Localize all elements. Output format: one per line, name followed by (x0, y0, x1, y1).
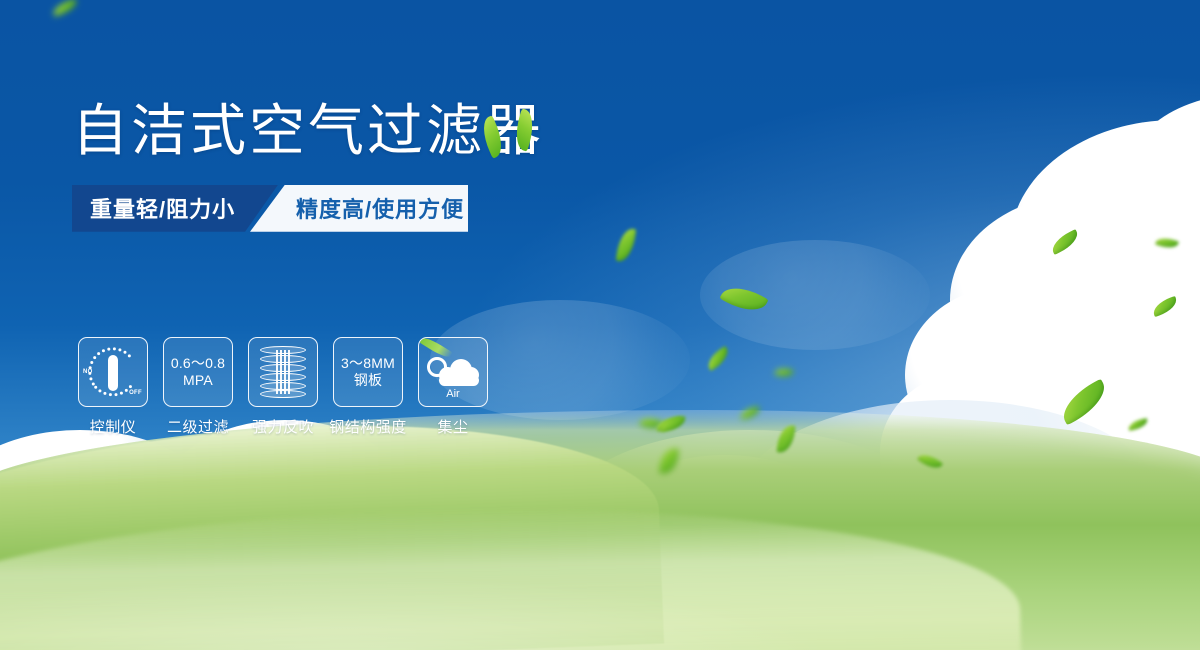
gauge-dial-icon: NO OFF (84, 343, 142, 401)
feature-item-pressure[interactable]: 0.6～0.8 MPA 二级过滤 (163, 337, 233, 437)
coil-ring (260, 390, 306, 398)
gauge-tick-dot (94, 386, 97, 389)
gauge-tick-dot (97, 352, 100, 355)
sprout-leaves-icon (476, 108, 556, 160)
feature-value-line-2: 钢板 (354, 372, 382, 389)
feature-item-control-gauge[interactable]: NO OFF 控制仪 (78, 337, 148, 437)
headline-block: 自洁式空气过滤器 重量轻/阻力小 精度高/使用方便 (72, 100, 772, 232)
feature-value-line-1: 0.6～0.8 (171, 355, 225, 372)
feature-label: 钢结构强度 (329, 416, 407, 437)
coil-bar (284, 350, 286, 394)
sprout-leaf-right (511, 108, 538, 151)
gauge-tick-dot (98, 389, 101, 392)
gauge-tick-dot (129, 385, 132, 388)
gauge-tick-dot (109, 393, 112, 396)
feature-label: 二级过滤 (167, 416, 229, 437)
grass-highlight (0, 520, 1200, 650)
feature-label: 集尘 (437, 416, 468, 437)
coil-ring (260, 364, 306, 372)
sprout-leaf-left (477, 115, 509, 158)
feature-icon-box: Air (418, 337, 488, 407)
feature-item-dust-collection[interactable]: Air 集尘 (418, 337, 488, 437)
coil-bar (288, 350, 290, 394)
feature-icon-box: NO OFF (78, 337, 148, 407)
coil-ring (260, 346, 306, 354)
coil-filter-icon (260, 346, 306, 398)
gauge-tick-dot (123, 351, 126, 354)
feature-value-line-1: 3～8MM (341, 355, 395, 372)
subtitle-panel-secondary: 精度高/使用方便 (250, 185, 468, 232)
feature-icon-box (248, 337, 318, 407)
feature-item-blowback[interactable]: 强力反吹 (248, 337, 318, 437)
feature-label: 控制仪 (90, 416, 137, 437)
gauge-tick-dot (125, 389, 128, 392)
product-banner: 自洁式空气过滤器 重量轻/阻力小 精度高/使用方便 NO OFF 控制仪 (0, 0, 1200, 650)
feature-label: 强力反吹 (252, 416, 314, 437)
coil-bar (280, 350, 282, 394)
gauge-tick-dot (115, 393, 118, 396)
feature-icon-box: 0.6～0.8 MPA (163, 337, 233, 407)
coil-ring (260, 382, 306, 390)
coil-ring (260, 373, 306, 381)
gauge-tick-dot (102, 349, 105, 352)
grass-field (0, 410, 1200, 650)
feature-list: NO OFF 控制仪 0.6～0.8 MPA 二级过滤 (78, 337, 488, 437)
feature-value-line-2: MPA (183, 372, 213, 389)
subtitle-bar: 重量轻/阻力小 精度高/使用方便 (72, 185, 468, 232)
gauge-tick-dot (93, 356, 96, 359)
gauge-tick-dot (107, 348, 110, 351)
air-label: Air (425, 388, 481, 400)
gauge-needle (108, 355, 118, 391)
cloud-base (439, 375, 479, 386)
coil-ring (260, 355, 306, 363)
gauge-tick-dot (90, 361, 93, 364)
gauge-tick-dot (113, 347, 116, 350)
gauge-tick-dot (128, 354, 131, 357)
gauge-tick-dot (103, 392, 106, 395)
subtitle-panel-primary: 重量轻/阻力小 (72, 185, 278, 232)
feature-icon-box: 3～8MM 钢板 (333, 337, 403, 407)
air-cloud-icon: Air (425, 347, 481, 397)
subtitle-text-secondary: 精度高/使用方便 (296, 192, 464, 224)
gauge-label-off: OFF (129, 390, 142, 396)
feature-item-steel-plate[interactable]: 3～8MM 钢板 钢结构强度 (333, 337, 403, 437)
gauge-tick-dot (120, 392, 123, 395)
gauge-tick-dot (118, 348, 121, 351)
page-title: 自洁式空气过滤器 (72, 100, 772, 163)
subtitle-text-primary: 重量轻/阻力小 (90, 192, 235, 224)
gauge-tick-dot (89, 377, 92, 380)
coil-bar (276, 350, 278, 394)
